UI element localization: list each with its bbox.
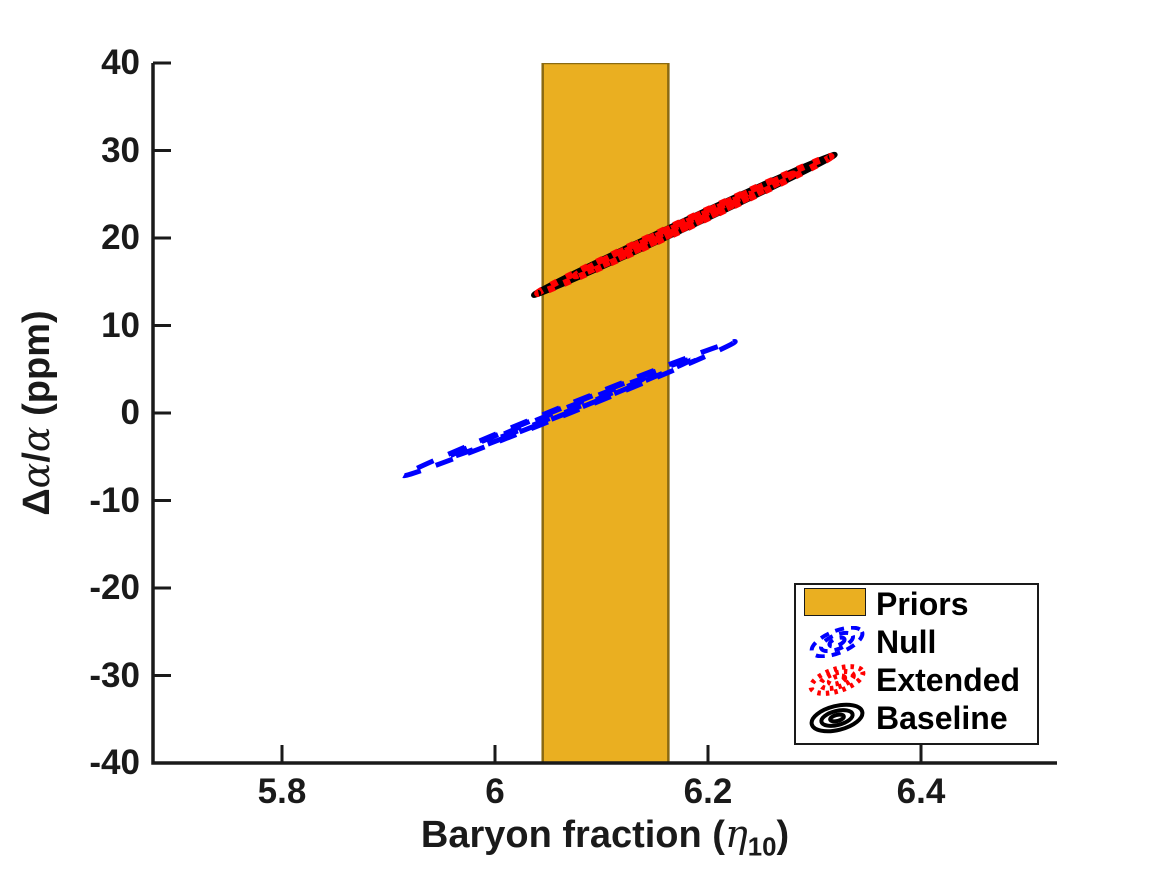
delta-symbol: Δ [16, 488, 58, 515]
eta-subscript: 10 [748, 834, 777, 862]
x-axis-label-text: Baryon fraction ( [421, 814, 725, 856]
legend: Priors Null [794, 583, 1039, 745]
xtick-label-2: 6 [485, 772, 504, 812]
x-axis-label: Baryon fraction (η10) [421, 812, 789, 863]
ytick-label-40: 40 [70, 43, 140, 83]
y-axis-units: (ppm) [16, 310, 58, 426]
xtick-label-3: 6.2 [684, 772, 733, 812]
ytick-label-30: 30 [70, 131, 140, 171]
ytick-label-neg20: -20 [50, 568, 140, 608]
x-axis-label-close: ) [776, 814, 789, 856]
legend-item-baseline[interactable]: Baseline [796, 699, 1037, 737]
ytick-label-neg40: -40 [50, 743, 140, 783]
y-axis-ticks [153, 63, 171, 763]
figure-canvas: 5.8 6 6.2 6.4 40 30 20 10 0 -10 -20 -30 … [0, 0, 1167, 875]
priors-swatch [804, 588, 870, 620]
alpha-symbol-denominator: α [14, 426, 58, 452]
alpha-symbol-numerator: α [14, 463, 58, 489]
ytick-label-neg30: -30 [50, 656, 140, 696]
ytick-label-0: 0 [70, 393, 140, 433]
legend-item-priors[interactable]: Priors [796, 585, 1037, 623]
slash-symbol: / [16, 452, 58, 463]
xtick-label-4: 6.4 [897, 772, 946, 812]
null-contour-key [804, 626, 870, 658]
legend-label-null: Null [876, 626, 936, 658]
legend-label-extended: Extended [876, 664, 1020, 696]
legend-item-extended[interactable]: Extended [796, 661, 1037, 699]
extended-contour-key [804, 664, 870, 696]
ytick-label-neg10: -10 [50, 481, 140, 521]
baseline-contour-key [804, 702, 870, 734]
legend-label-priors: Priors [876, 588, 968, 620]
xtick-label-1: 5.8 [258, 772, 307, 812]
y-axis-label: Δα/α (ppm) [14, 310, 59, 515]
ytick-label-20: 20 [70, 218, 140, 258]
legend-item-null[interactable]: Null [796, 623, 1037, 661]
legend-label-baseline: Baseline [876, 702, 1008, 734]
ytick-label-10: 10 [70, 306, 140, 346]
eta-symbol: η [725, 812, 748, 856]
